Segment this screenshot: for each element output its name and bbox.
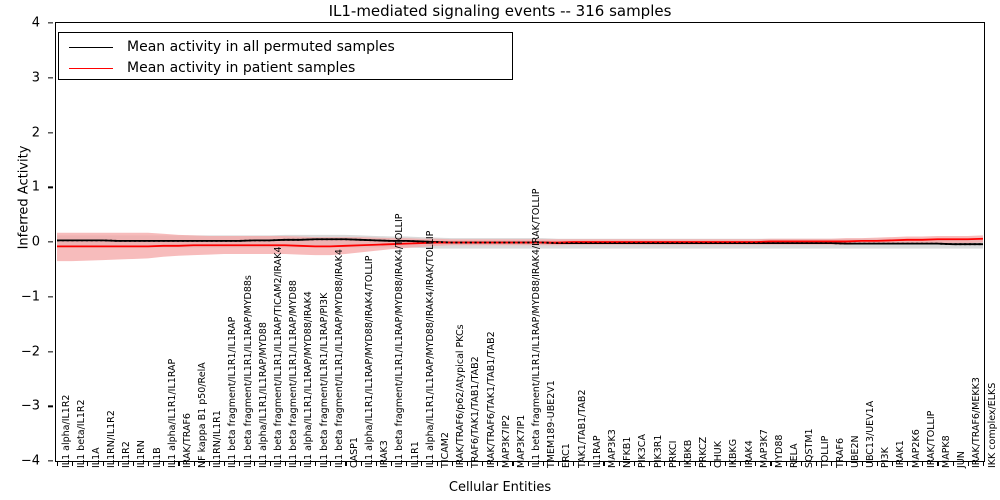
x-tick-label: IRAK/TRAF6/MEKK3 [971,377,982,468]
x-tick-mark [406,462,407,466]
x-tick-label: TAK1/TAB1/TAB2 [577,390,588,469]
x-tick-mark [786,462,787,466]
y-tick-mark [48,296,53,297]
x-tick-label: JUN [956,451,967,468]
x-tick-mark [163,462,164,466]
y-tick-label: 4 [32,16,40,31]
x-tick-label: RELA [789,443,800,468]
x-tick-mark [755,462,756,466]
x-tick-label: NFKB1 [622,437,633,468]
x-tick-mark [391,462,392,466]
x-tick-mark [619,462,620,466]
x-tick-mark [209,462,210,466]
x-tick-mark [770,462,771,466]
x-tick-mark [194,462,195,466]
x-tick-mark [831,462,832,466]
chart-figure: { "chart_data": { "type": "line", "title… [0,0,1000,500]
x-tick-mark [816,462,817,466]
x-tick-label: IKBKG [728,439,739,468]
x-tick-mark [907,462,908,466]
x-tick-label: IRAK/TOLLIP [926,411,937,468]
x-tick-mark [512,462,513,466]
x-tick-mark [87,462,88,466]
x-tick-label: IRAK4 [744,440,755,468]
x-tick-mark [482,462,483,466]
x-tick-label: PRKCZ [698,437,709,468]
y-axis-ticks: 43210−1−2−3−4 [0,22,48,462]
x-tick-label: IL1R2 [121,441,132,468]
x-tick-label: PIK3CA [637,434,648,468]
x-tick-label: SQSTM1 [804,428,815,468]
x-tick-label: IL1A [91,447,102,468]
y-tick-label: −1 [21,289,40,304]
x-tick-mark [224,462,225,466]
y-tick-mark [48,351,53,352]
series-canvas [56,23,984,461]
chart-title: IL1-mediated signaling events -- 316 sam… [0,2,1000,20]
x-tick-label: IL1 alpha/IL1R1/IL1RAP/MYD88/IRAK4/TOLLI… [364,256,375,468]
x-tick-mark [664,462,665,466]
x-tick-label: UBE2N [850,435,861,468]
x-tick-label: IRAK/TRAF6/TAK1/TAB1/TAB2 [486,331,497,468]
x-tick-label: MAP3K3 [607,429,618,468]
x-tick-mark [892,462,893,466]
x-tick-label: UBC13/UEV1A [865,401,876,468]
x-tick-label: IRAK/TRAF6 [182,413,193,468]
x-tick-mark [649,462,650,466]
x-tick-mark [725,462,726,466]
legend-label: Mean activity in patient samples [127,60,355,76]
x-tick-label: CHUK [713,441,724,468]
x-tick-mark [710,462,711,466]
x-tick-label: IL1RN/IL1R2 [106,410,117,468]
x-tick-label: IL1RAP [592,435,603,468]
x-tick-mark [285,462,286,466]
x-tick-label: IKBKB [683,440,694,468]
x-axis-label: Cellular Entities [0,480,1000,495]
x-tick-mark [877,462,878,466]
y-tick-mark [48,22,53,23]
y-tick-mark [48,241,53,242]
x-tick-label: PI3K [880,447,891,468]
x-tick-mark [300,462,301,466]
x-tick-label: IRAK3 [379,440,390,468]
x-tick-label: IL1 beta/IL1R2 [76,399,87,468]
x-tick-label: MAP3K7 [759,429,770,468]
x-tick-label: IL1RN/IL1R1 [212,410,223,468]
x-tick-mark [695,462,696,466]
x-tick-label: MYD88 [774,435,785,468]
y-tick-mark [48,460,53,461]
x-tick-mark [968,462,969,466]
x-tick-mark [57,462,58,466]
x-tick-mark [558,462,559,466]
x-tick-mark [862,462,863,466]
x-tick-mark [118,462,119,466]
x-tick-label: TICAM2 [440,432,451,468]
x-tick-label: TMEM189-UBE2V1 [546,380,557,468]
x-tick-mark [148,462,149,466]
x-tick-mark [437,462,438,466]
x-tick-mark [588,462,589,466]
x-tick-label: IL1B [152,447,163,468]
x-tick-mark [376,462,377,466]
x-tick-mark [178,462,179,466]
x-tick-mark [361,462,362,466]
x-tick-mark [270,462,271,466]
x-tick-label: TOLLIP [820,436,831,468]
x-tick-mark [679,462,680,466]
x-tick-mark [345,462,346,466]
x-tick-label: TRAF6 [835,438,846,468]
x-tick-mark [983,462,984,466]
x-tick-label: MAP3K7IP1 [516,415,527,468]
x-tick-label: IL1 beta fragment/IL1R1/IL1RAP/MYD88 [288,280,299,468]
y-tick-mark [48,187,53,188]
x-tick-label: MAP2K6 [911,429,922,468]
y-tick-label: 1 [32,180,40,195]
x-tick-label: IKK complex/ELKS [987,383,998,468]
legend-item: Mean activity in patient samples [69,57,355,79]
x-tick-mark [543,462,544,466]
x-tick-label: ERC1 [561,443,572,468]
x-tick-label: IL1 beta fragment/IL1R1/IL1RAP [227,317,238,468]
x-tick-mark [452,462,453,466]
x-tick-label: IL1 alpha/IL1R1/IL1RAP/MYD88/IRAK4/IRAK/… [425,231,436,468]
legend-label: Mean activity in all permuted samples [127,39,395,55]
y-tick-mark [48,77,53,78]
x-tick-label: IL1 alpha/IL1R1/IL1RAP/MYD88/IRAK4 [303,291,314,468]
x-tick-mark [72,462,73,466]
x-tick-mark [846,462,847,466]
x-tick-label: IL1 beta fragment/IL1R1/IL1RAP/TICAM2/IR… [273,247,284,468]
x-tick-mark [330,462,331,466]
x-tick-mark [801,462,802,466]
x-tick-label: IL1 alpha/IL1R1/IL1RAP [167,359,178,468]
x-tick-mark [953,462,954,466]
x-tick-mark [254,462,255,466]
y-tick-label: −3 [21,399,40,414]
x-tick-mark [421,462,422,466]
y-tick-mark [48,406,53,407]
x-tick-label: TRAF6/TAK1/TAB1/TAB2 [470,356,481,468]
x-tick-label: IRAK1 [895,440,906,468]
x-tick-label: PRKCI [668,441,679,468]
x-tick-mark [315,462,316,466]
x-tick-label: IL1 beta fragment/IL1R1/IL1RAP/MYD88s [243,275,254,468]
chart-legend: Mean activity in all permuted samplesMea… [58,32,513,80]
plot-area [55,22,985,462]
x-tick-label: MAPK8 [941,435,952,468]
x-tick-label: IL1 beta fragment/IL1R1/IL1RAP/MYD88/IRA… [394,213,405,468]
legend-item: Mean activity in all permuted samples [69,36,395,58]
y-tick-label: 0 [32,235,40,250]
x-tick-mark [103,462,104,466]
y-tick-label: 2 [32,125,40,140]
x-tick-label: NF kappa B1 p50/RelA [197,362,208,468]
x-tick-label: IL1RN [136,440,147,468]
x-tick-label: MAP3K7IP2 [501,415,512,468]
x-tick-mark [922,462,923,466]
x-tick-label: IL1 alpha/IL1R1/IL1RAP/MYD88 [258,322,269,468]
x-tick-mark [937,462,938,466]
y-tick-label: −2 [21,344,40,359]
x-tick-label: PIK3R1 [653,435,664,468]
x-tick-mark [573,462,574,466]
y-tick-mark [48,132,53,133]
x-tick-label: IL1 beta fragment/IL1R1/IL1RAP/MYD88/IRA… [334,249,345,468]
y-tick-label: −4 [21,454,40,469]
legend-line-swatch [69,47,113,48]
x-tick-label: IL1 beta fragment/IL1R1/IL1RAP/MYD88/IRA… [531,189,542,468]
x-tick-label: IRAK/TRAF6/p62/Atypical PKCs [455,324,466,468]
x-tick-mark [467,462,468,466]
legend-line-swatch [69,68,113,69]
x-tick-mark [740,462,741,466]
x-tick-mark [634,462,635,466]
x-tick-mark [497,462,498,466]
x-tick-mark [239,462,240,466]
x-tick-label: IL1 beta fragment/IL1R1/IL1RAP/PI3K [319,293,330,468]
x-tick-label: IL1R1 [410,441,421,468]
x-tick-label: CASP1 [349,437,360,468]
x-tick-mark [603,462,604,466]
y-tick-label: 3 [32,70,40,85]
x-tick-label: IL1 alpha/IL1R2 [61,395,72,468]
x-tick-mark [528,462,529,466]
x-tick-mark [133,462,134,466]
